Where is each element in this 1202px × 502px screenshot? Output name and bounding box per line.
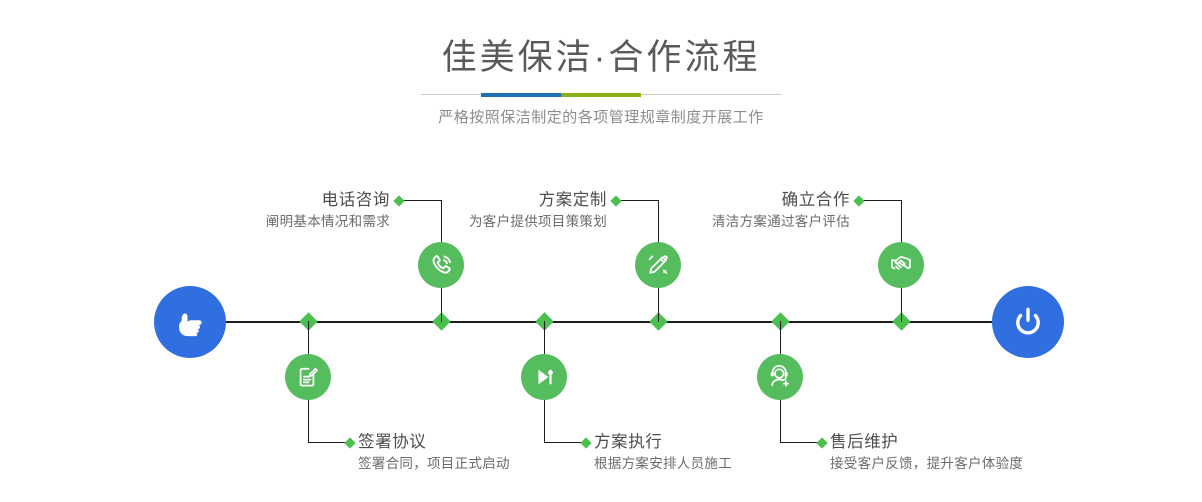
label-elbow-v-6 [780, 400, 781, 442]
step-icon-5[interactable] [878, 242, 924, 288]
step-label-5: 确立合作 清洁方案通过客户评估 [610, 189, 850, 232]
label-elbow-v-5 [901, 200, 902, 242]
document-edit-icon [294, 363, 322, 391]
step-icon-2[interactable] [285, 354, 331, 400]
step-desc-6: 接受客户反馈，提升客户体验度 [830, 453, 1130, 474]
pencil-design-icon [644, 251, 672, 279]
divider-segment-green [561, 93, 641, 97]
step-title-1: 电话咨询 [150, 189, 390, 211]
connector-tick-4 [544, 321, 546, 354]
step-desc-4: 根据方案安排人员施工 [594, 453, 854, 474]
step-icon-3[interactable] [635, 242, 681, 288]
connector-tick-3 [658, 288, 660, 322]
page-subtitle: 严格按照保洁制定的各项管理规章制度开展工作 [0, 106, 1202, 130]
label-dot-5 [853, 195, 864, 206]
step-desc-2: 签署合同，项目正式启动 [358, 453, 618, 474]
step-icon-4[interactable] [521, 354, 567, 400]
step-label-1: 电话咨询 阐明基本情况和需求 [150, 189, 390, 232]
connector-tick-6 [780, 321, 782, 354]
phone-call-icon [427, 251, 455, 279]
step-title-6: 售后维护 [830, 431, 1130, 453]
label-dot-2 [344, 437, 355, 448]
connector-tick-5 [901, 288, 903, 322]
step-desc-1: 阐明基本情况和需求 [150, 211, 390, 232]
flow-diagram-canvas: 佳美保洁·合作流程 严格按照保洁制定的各项管理规章制度开展工作 [0, 0, 1202, 502]
step-icon-1[interactable] [418, 242, 464, 288]
flow-end-node[interactable] [992, 286, 1064, 358]
label-elbow-h-5 [859, 200, 901, 201]
step-title-3: 方案定制 [370, 189, 607, 211]
page-title: 佳美保洁·合作流程 [0, 36, 1202, 80]
connector-tick-1 [441, 288, 443, 322]
step-desc-5: 清洁方案通过客户评估 [610, 211, 850, 232]
step-desc-3: 为客户提供项目策策划 [370, 211, 607, 232]
step-label-4: 方案执行 根据方案安排人员施工 [594, 431, 854, 474]
play-execute-icon [530, 363, 558, 391]
step-icon-6[interactable] [757, 354, 803, 400]
pointing-hand-icon [170, 302, 210, 342]
step-label-2: 签署协议 签署合同，项目正式启动 [358, 431, 618, 474]
step-label-6: 售后维护 接受客户反馈，提升客户体验度 [830, 431, 1130, 474]
divider-segment-blue [481, 93, 561, 97]
connector-tick-2 [308, 321, 310, 354]
power-icon [1008, 302, 1048, 342]
handshake-icon [887, 251, 915, 279]
step-title-5: 确立合作 [610, 189, 850, 211]
label-elbow-v-2 [308, 400, 309, 442]
customer-service-add-icon [766, 363, 794, 391]
title-divider [421, 94, 781, 95]
step-label-3: 方案定制 为客户提供项目策策划 [370, 189, 607, 232]
flow-start-node[interactable] [154, 286, 226, 358]
label-elbow-v-4 [544, 400, 545, 442]
